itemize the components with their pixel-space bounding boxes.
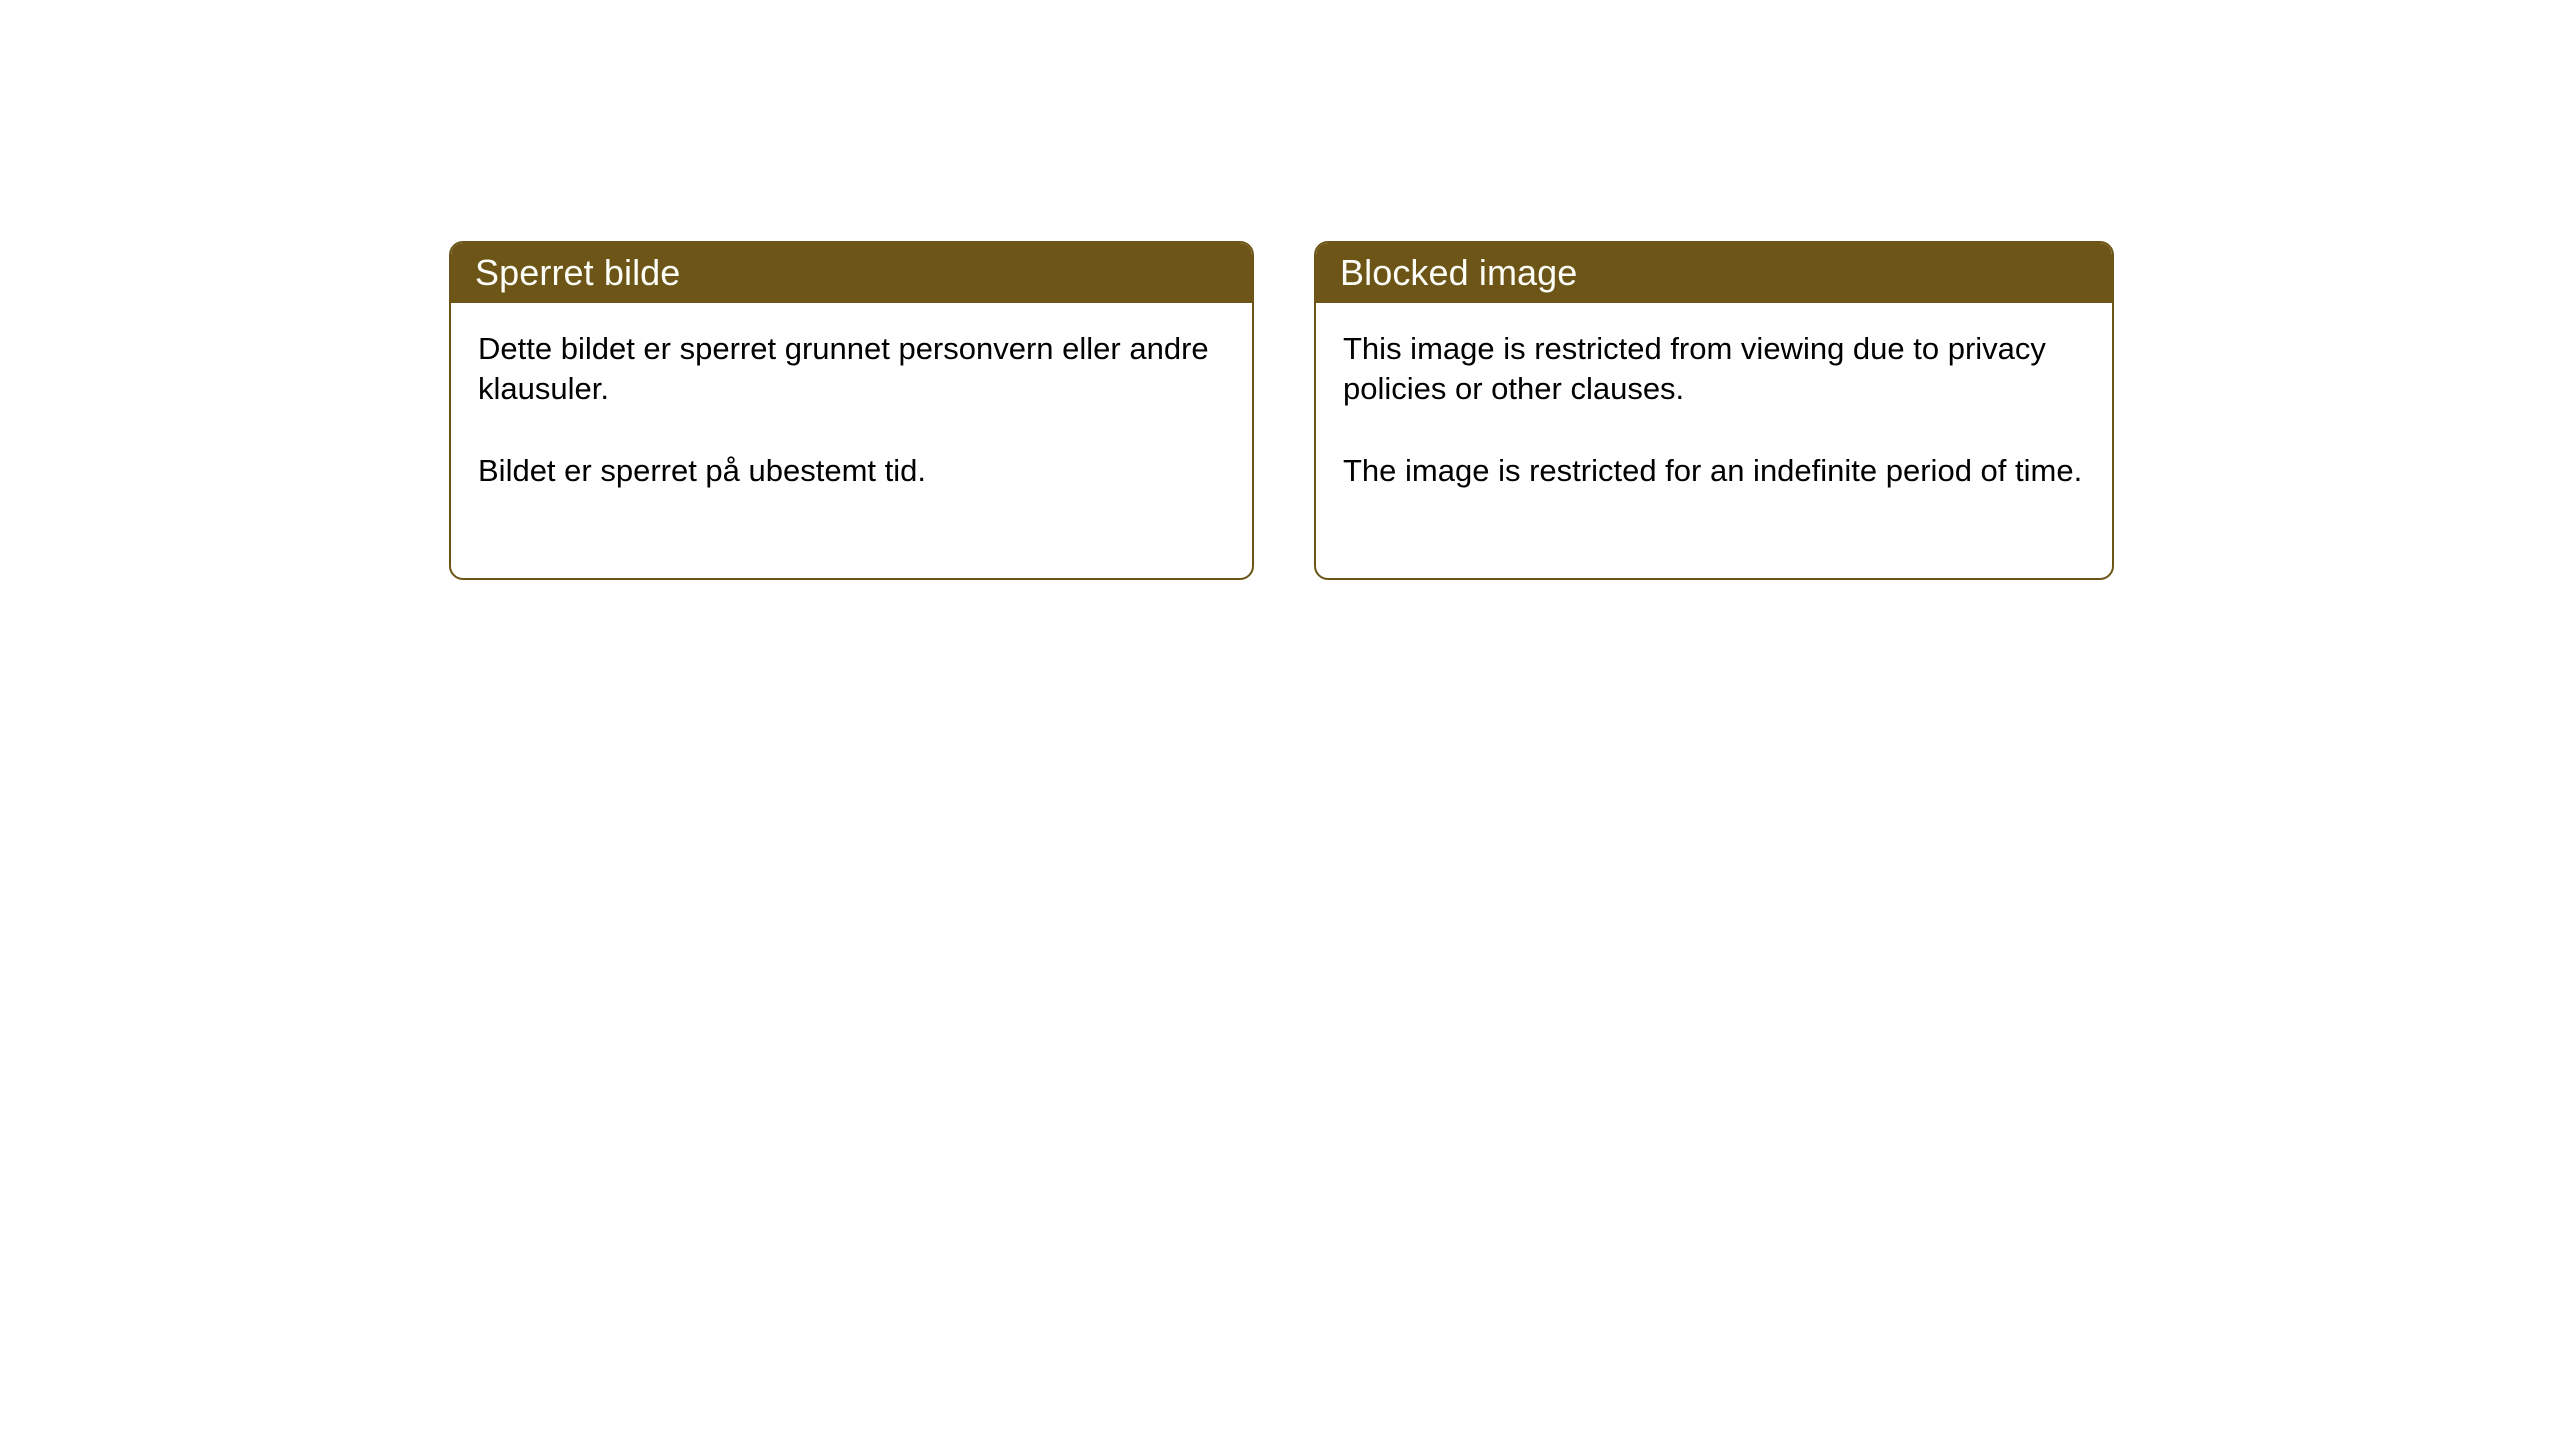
- card-paragraph-primary-norwegian: Dette bildet er sperret grunnet personve…: [478, 329, 1224, 409]
- card-body-norwegian: Dette bildet er sperret grunnet personve…: [451, 303, 1252, 511]
- card-title-english: Blocked image: [1340, 255, 1577, 291]
- blocked-image-notice-card-norwegian: Sperret bilde Dette bildet er sperret gr…: [449, 241, 1254, 580]
- card-paragraph-secondary-english: The image is restricted for an indefinit…: [1343, 451, 2084, 491]
- page-root: Sperret bilde Dette bildet er sperret gr…: [0, 0, 2560, 1440]
- card-title-norwegian: Sperret bilde: [475, 255, 680, 291]
- card-body-english: This image is restricted from viewing du…: [1316, 303, 2112, 511]
- card-paragraph-primary-english: This image is restricted from viewing du…: [1343, 329, 2084, 409]
- card-header-english: Blocked image: [1316, 243, 2112, 303]
- blocked-image-notice-card-english: Blocked image This image is restricted f…: [1314, 241, 2114, 580]
- card-header-norwegian: Sperret bilde: [451, 243, 1252, 303]
- card-paragraph-secondary-norwegian: Bildet er sperret på ubestemt tid.: [478, 451, 1224, 491]
